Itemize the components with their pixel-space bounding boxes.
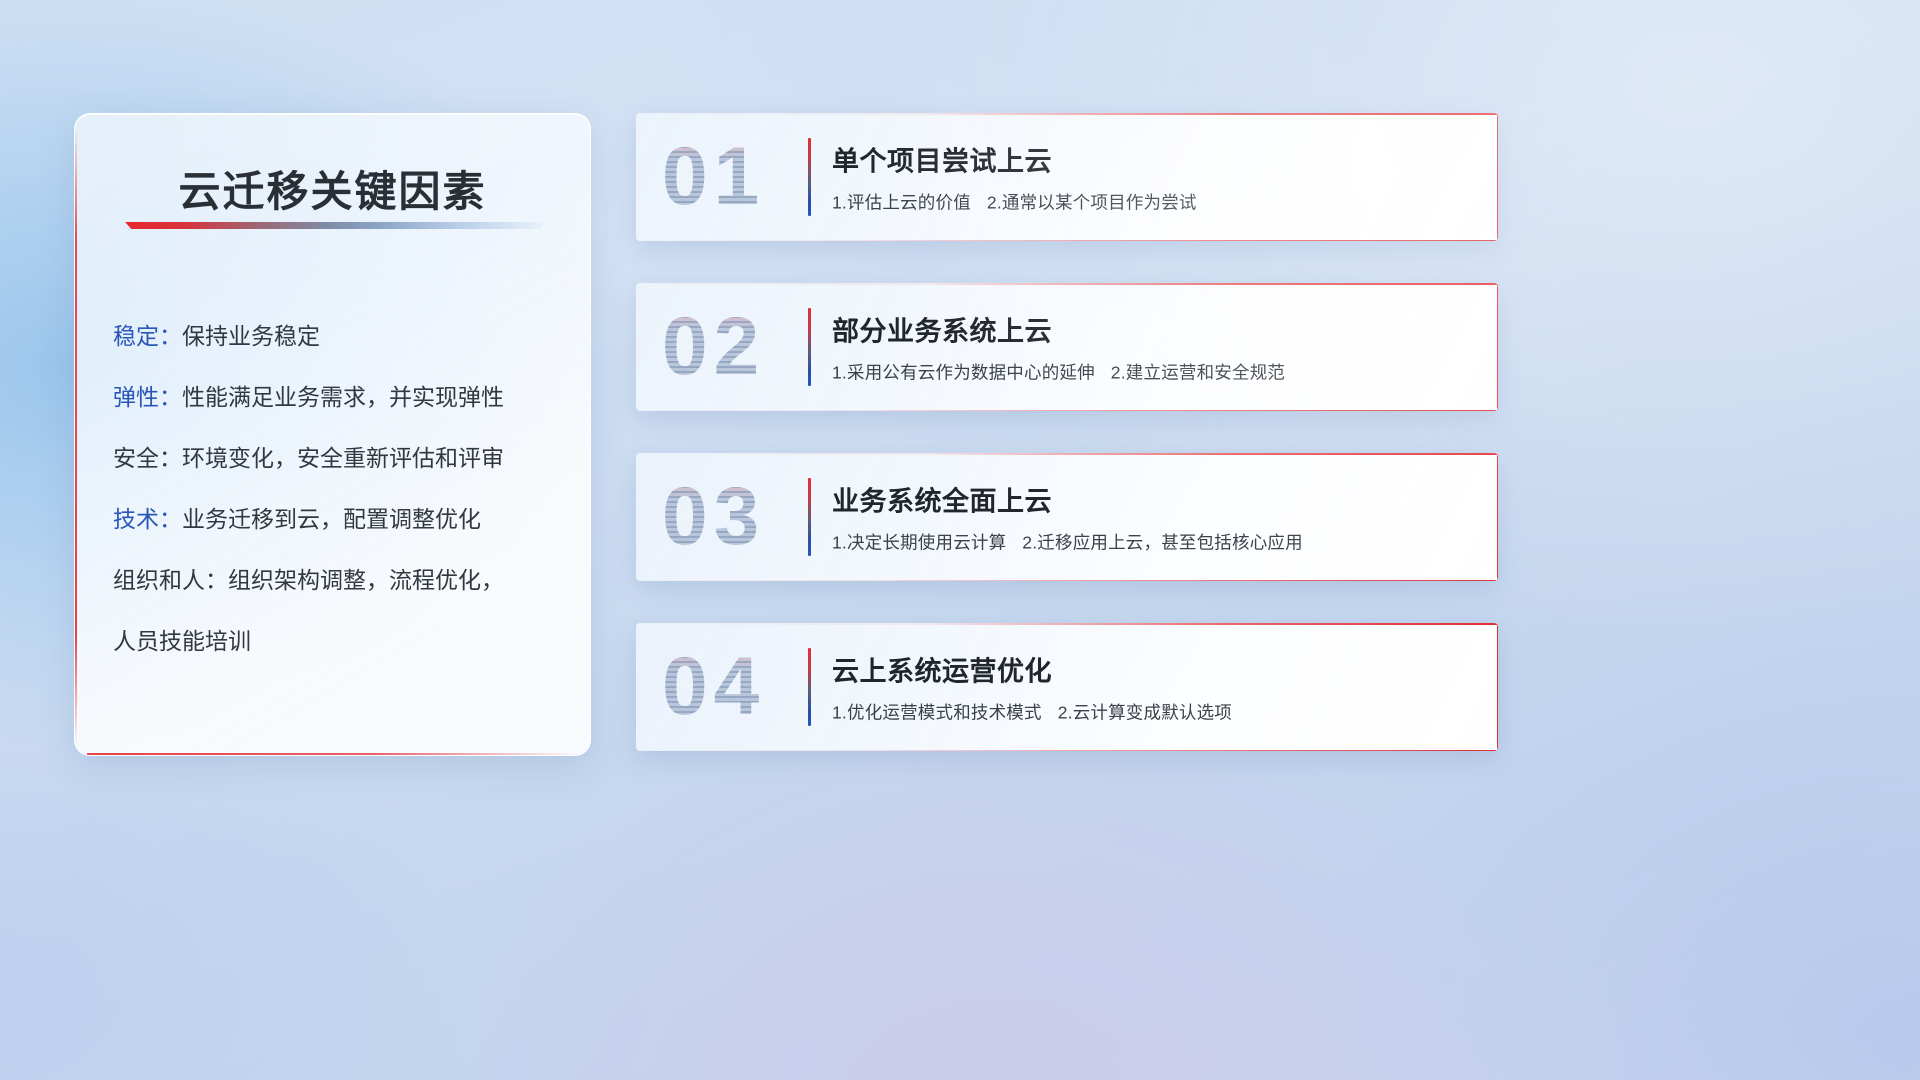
card-title: 云上系统运营优化 [832,650,1474,689]
card-accent-bar [808,138,811,216]
factor-value: 人员技能培训 [113,628,251,654]
card-point-1: 1.决定长期使用云计算 [832,533,1006,553]
factor-row: 弹性：性能满足业务需求，并实现弹性 [113,367,564,428]
factor-key: 组织和人： [113,567,228,593]
card-body: 单个项目尝试上云 1.评估上云的价值2.通常以某个项目作为尝试 [832,140,1474,215]
card-accent-bar [808,308,811,386]
card-accent-bar [808,478,811,556]
factor-row: 稳定：保持业务稳定 [113,306,564,367]
page-title: 云迁移关键因素 [75,158,590,219]
card-body: 业务系统全面上云 1.决定长期使用云计算2.迁移应用上云，甚至包括核心应用 [832,480,1474,555]
card-bottom-accent-line [636,240,1498,242]
card-bottom-accent-line [636,410,1498,412]
card-point-1: 1.采用公有云作为数据中心的延伸 [832,363,1095,383]
card-description: 1.决定长期使用云计算2.迁移应用上云，甚至包括核心应用 [832,530,1474,555]
stage-card[interactable]: 01 单个项目尝试上云 1.评估上云的价值2.通常以某个项目作为尝试 [636,113,1498,241]
card-title: 业务系统全面上云 [832,480,1474,519]
card-bottom-accent-line [636,750,1498,752]
card-description: 1.评估上云的价值2.通常以某个项目作为尝试 [832,190,1474,215]
card-bottom-accent-line [636,580,1498,582]
card-accent-bar [808,648,811,726]
card-body: 部分业务系统上云 1.采用公有云作为数据中心的延伸2.建立运营和安全规范 [832,310,1474,385]
card-description: 1.优化运营模式和技术模式2.云计算变成默认选项 [832,700,1474,725]
card-point-2: 2.建立运营和安全规范 [1111,363,1285,383]
card-title: 部分业务系统上云 [832,310,1474,349]
card-point-1: 1.优化运营模式和技术模式 [832,703,1042,723]
factor-value: 性能满足业务需求，并实现弹性 [182,384,504,410]
factor-value: 环境变化，安全重新评估和评审 [182,445,504,471]
title-underline-gradient [125,222,545,229]
stage-number-ghost: 02 [662,306,765,388]
factor-value: 组织架构调整，流程优化， [228,567,504,593]
card-point-2: 2.迁移应用上云，甚至包括核心应用 [1022,533,1303,553]
card-title: 单个项目尝试上云 [832,140,1474,179]
factor-key: 安全： [113,445,182,471]
factor-key: 技术： [113,506,182,532]
slide-canvas: 云迁移关键因素 稳定：保持业务稳定 弹性：性能满足业务需求，并实现弹性 安全：环… [0,0,1920,1080]
factor-key: 弹性： [113,384,182,410]
panel-left-accent-line [75,128,77,745]
stage-card[interactable]: 02 部分业务系统上云 1.采用公有云作为数据中心的延伸2.建立运营和安全规范 [636,283,1498,411]
key-factors-panel: 云迁移关键因素 稳定：保持业务稳定 弹性：性能满足业务需求，并实现弹性 安全：环… [74,113,591,756]
factor-value: 业务迁移到云，配置调整优化 [182,506,481,532]
card-body: 云上系统运营优化 1.优化运营模式和技术模式2.云计算变成默认选项 [832,650,1474,725]
stage-number-ghost: 04 [662,646,765,728]
factor-key: 稳定： [113,323,182,349]
card-point-2: 2.云计算变成默认选项 [1058,703,1232,723]
factor-row: 技术：业务迁移到云，配置调整优化 [113,489,564,550]
stage-card-list: 01 单个项目尝试上云 1.评估上云的价值2.通常以某个项目作为尝试 02 部分… [636,113,1498,793]
panel-bottom-accent-line [87,753,580,755]
card-description: 1.采用公有云作为数据中心的延伸2.建立运营和安全规范 [832,360,1474,385]
stage-card[interactable]: 04 云上系统运营优化 1.优化运营模式和技术模式2.云计算变成默认选项 [636,623,1498,751]
factor-list: 稳定：保持业务稳定 弹性：性能满足业务需求，并实现弹性 安全：环境变化，安全重新… [113,306,564,672]
stage-number-ghost: 01 [662,136,765,218]
factor-row: 人员技能培训 [113,611,564,672]
factor-value: 保持业务稳定 [182,323,320,349]
card-point-2: 2.通常以某个项目作为尝试 [987,193,1197,213]
factor-row: 组织和人：组织架构调整，流程优化， [113,550,564,611]
factor-row: 安全：环境变化，安全重新评估和评审 [113,428,564,489]
stage-number-ghost: 03 [662,476,765,558]
stage-card[interactable]: 03 业务系统全面上云 1.决定长期使用云计算2.迁移应用上云，甚至包括核心应用 [636,453,1498,581]
card-point-1: 1.评估上云的价值 [832,193,971,213]
